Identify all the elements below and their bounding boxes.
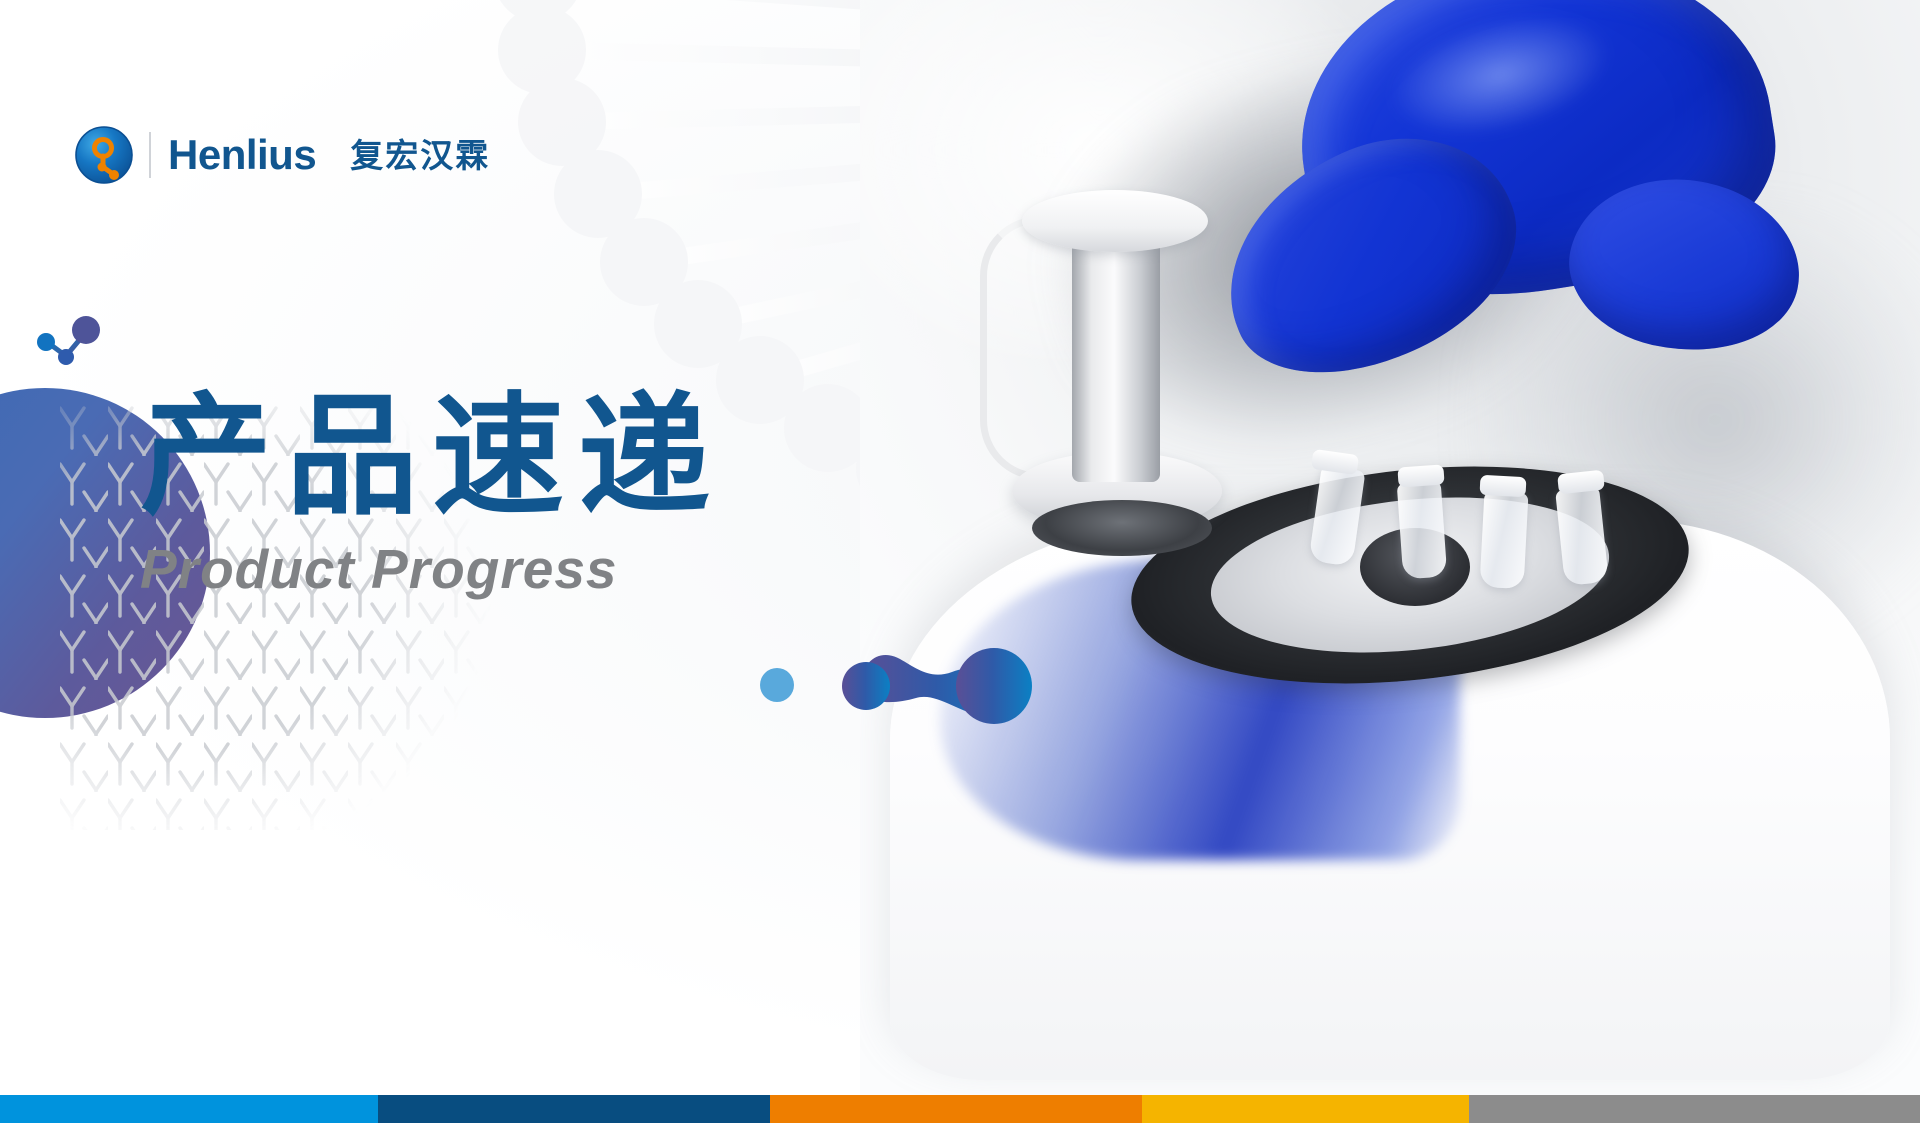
bar-segment-orange bbox=[770, 1095, 1142, 1123]
title-block: 产品速递 Product Progress bbox=[140, 378, 724, 597]
logo-chinese-name: 复宏汉霖 bbox=[350, 139, 490, 172]
logo-divider bbox=[149, 132, 151, 178]
page-title: 产品速递 bbox=[140, 378, 724, 536]
bottom-color-bar bbox=[0, 1095, 1920, 1123]
slide-root: Henlius 复宏汉霖 产品速递 Product Progress bbox=[0, 0, 1920, 1123]
henlius-logo-icon bbox=[75, 126, 133, 184]
centrifuge-shaft bbox=[1072, 232, 1160, 482]
logo-wordmark: Henlius bbox=[168, 134, 316, 176]
bar-segment-amber bbox=[1142, 1095, 1468, 1123]
brand-logo[interactable]: Henlius 复宏汉霖 bbox=[75, 124, 490, 186]
lab-photo bbox=[860, 0, 1920, 1095]
molecule-dumbbell-icon bbox=[826, 628, 1046, 738]
gloved-hand bbox=[1240, 0, 1840, 420]
bar-segment-dark-blue bbox=[378, 1095, 770, 1123]
molecule-icon-left bbox=[30, 310, 130, 390]
bar-segment-light-blue bbox=[0, 1095, 378, 1123]
decorative-dot bbox=[760, 668, 794, 702]
bar-segment-grey bbox=[1469, 1095, 1920, 1123]
page-subtitle: Product Progress bbox=[140, 542, 724, 597]
